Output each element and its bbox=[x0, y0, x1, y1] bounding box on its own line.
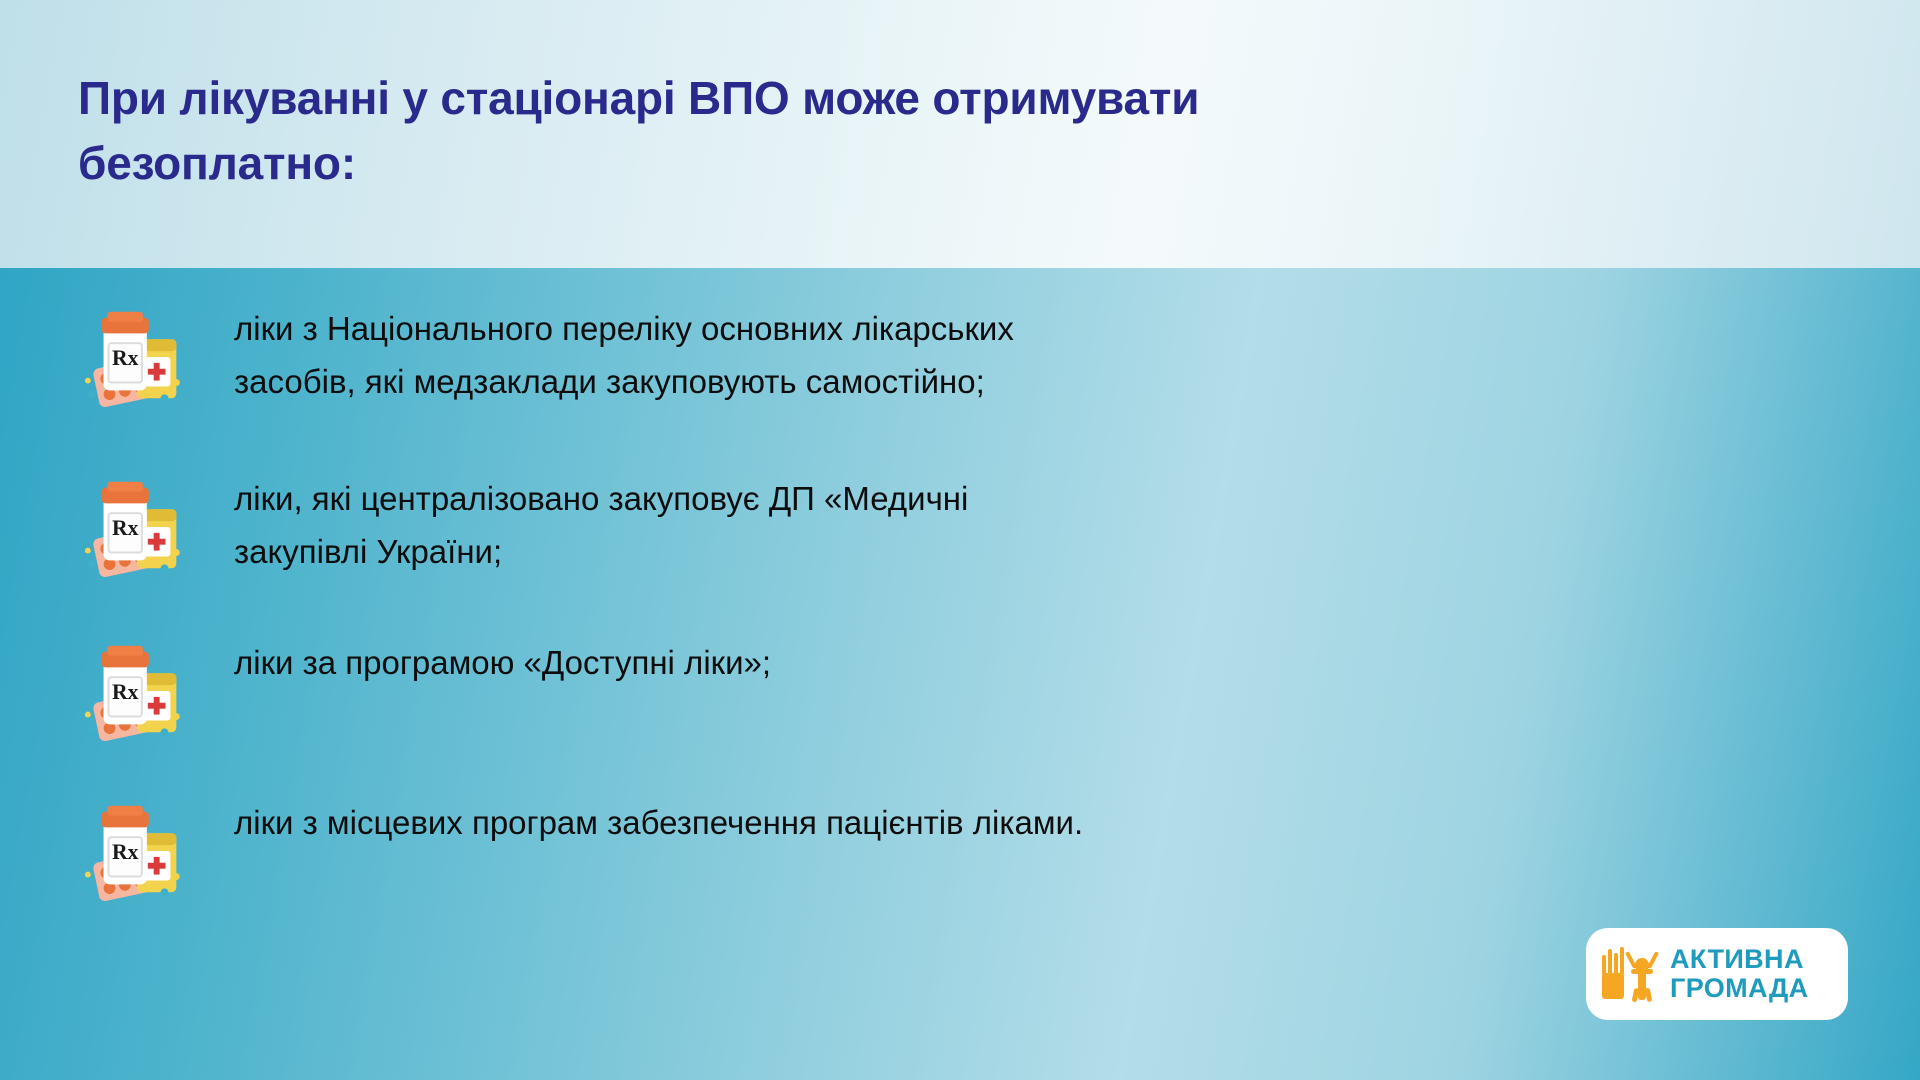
medicine-bottle-pills-icon: Rx bbox=[78, 296, 196, 414]
raised-hands-people-icon bbox=[1598, 943, 1664, 1005]
list-item-line: ліки з місцевих програм забезпечення пац… bbox=[234, 796, 1083, 849]
svg-text:Rx: Rx bbox=[112, 516, 139, 540]
list-item-line: закупівлі України; bbox=[234, 525, 968, 578]
brand-logo-line-2: ГРОМАДА bbox=[1670, 974, 1809, 1003]
svg-text:Rx: Rx bbox=[112, 346, 139, 370]
title-line-1: При лікуванні у стаціонарі ВПО може отри… bbox=[78, 66, 1778, 131]
list-item-text: ліки за програмою «Доступні ліки»; bbox=[234, 630, 771, 689]
list-item-line: засобів, які медзаклади закуповують само… bbox=[234, 355, 1014, 408]
list-item: Rx ліки, які централізовано закуповує ДП… bbox=[0, 466, 1920, 584]
medicine-bottle-pills-icon: Rx bbox=[78, 466, 196, 584]
brand-logo-line-1: АКТИВНА bbox=[1670, 945, 1809, 974]
brand-logo: АКТИВНА ГРОМАДА bbox=[1586, 928, 1848, 1020]
title-line-2: безоплатно: bbox=[78, 131, 1778, 196]
list-item: Rx ліки з місцевих програм забезпечення … bbox=[0, 790, 1920, 908]
page-title: При лікуванні у стаціонарі ВПО може отри… bbox=[78, 66, 1778, 197]
svg-text:Rx: Rx bbox=[112, 680, 139, 704]
list-item-line: ліки з Національного переліку основних л… bbox=[234, 302, 1014, 355]
medicine-bottle-pills-icon: Rx bbox=[78, 630, 196, 748]
list-item-line: ліки, які централізовано закуповує ДП «М… bbox=[234, 472, 968, 525]
slide-canvas: При лікуванні у стаціонарі ВПО може отри… bbox=[0, 0, 1920, 1080]
header-band: При лікуванні у стаціонарі ВПО може отри… bbox=[0, 0, 1920, 268]
list-item-text: ліки, які централізовано закуповує ДП «М… bbox=[234, 466, 968, 579]
svg-text:Rx: Rx bbox=[112, 840, 139, 864]
list-item: Rx ліки за програмою «Доступні ліки»; bbox=[0, 630, 1920, 748]
list-item-text: ліки з місцевих програм забезпечення пац… bbox=[234, 790, 1083, 849]
list-item: Rx ліки з Національного переліку основни… bbox=[0, 296, 1920, 414]
list-item-text: ліки з Національного переліку основних л… bbox=[234, 296, 1014, 409]
list-item-line: ліки за програмою «Доступні ліки»; bbox=[234, 636, 771, 689]
brand-logo-text: АКТИВНА ГРОМАДА bbox=[1670, 945, 1809, 1003]
medicine-bottle-pills-icon: Rx bbox=[78, 790, 196, 908]
